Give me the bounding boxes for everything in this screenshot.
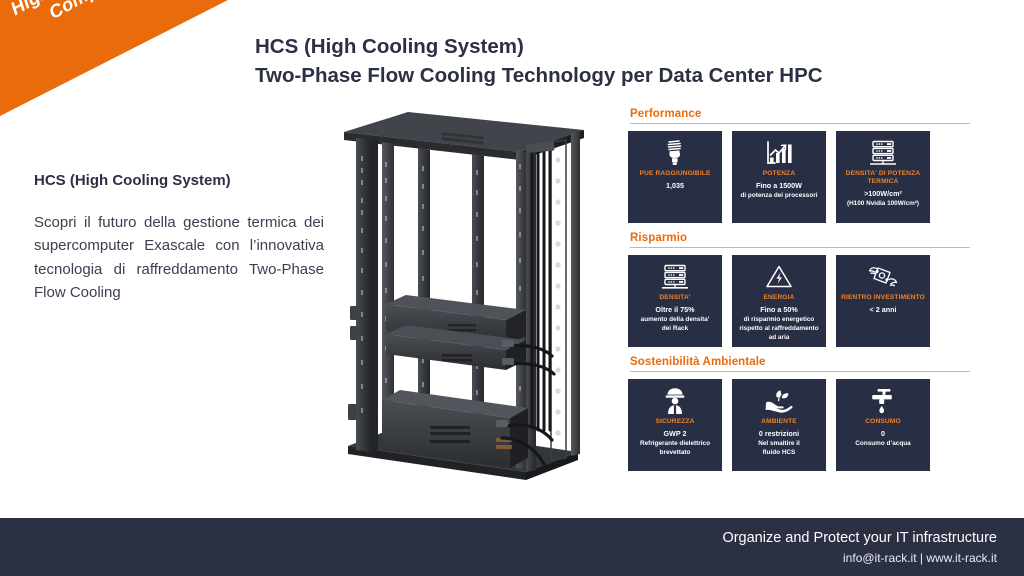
safety-worker-helmet-icon	[662, 386, 688, 416]
feature-card-title: DENSITA' DI POTENZA TERMICA	[840, 170, 926, 186]
section-divider	[630, 371, 970, 372]
description-paragraph: Scopri il futuro della gestione termica …	[34, 211, 324, 304]
feature-card-rientro-investimento[interactable]: RIENTRO INVESTIMENTO < 2 anni	[836, 255, 930, 347]
page-title-line1: HCS (High Cooling System)	[255, 35, 524, 58]
page-title-line2: Two-Phase Flow Cooling Technology per Da…	[255, 61, 915, 90]
card-row-performance: PUE RAGGIUNGIBILE 1,035	[628, 131, 972, 223]
feature-card-subtext: di risparmio energetico	[736, 315, 822, 324]
feature-card-subtext: di potenza dei processori	[740, 191, 817, 200]
feature-card-body: < 2 anni	[870, 305, 897, 315]
feature-card-value: < 2 anni	[870, 305, 897, 315]
section-divider	[630, 123, 970, 124]
feature-card-subtext: Nel smaltire il	[758, 439, 800, 448]
slide-canvas: High Performance Computing HCS (High Coo…	[0, 0, 1024, 576]
card-row-risparmio: DENSITA' Oltre il 75% aumento della dens…	[628, 255, 972, 347]
section-risparmio: Risparmio	[628, 232, 972, 347]
feature-card-note: brevettato	[640, 448, 710, 457]
description-title: HCS (High Cooling System)	[34, 172, 324, 189]
feature-card-value: Oltre il 75%	[641, 305, 710, 315]
feature-card-value: 0 restrizioni	[758, 429, 800, 439]
feature-card-body: Fino a 50% di risparmio energetico rispe…	[736, 305, 822, 343]
footer-contact[interactable]: info@it-rack.it | www.it-rack.it	[722, 549, 997, 567]
section-sostenibilita-ambientale: Sostenibilità Ambientale SICUREZZA	[628, 356, 972, 471]
corner-banner-wedge	[0, 0, 228, 116]
feature-card-body: 0 restrizioni Nel smaltire il fluido HCS	[758, 429, 800, 457]
feature-card-value: GWP 2	[640, 429, 710, 439]
feature-card-subtext: Consumo d’acqua	[855, 439, 910, 448]
feature-card-body: Fino a 1500W di potenza dei processori	[740, 181, 817, 200]
corner-banner-text: High Performance Computing	[0, 0, 204, 58]
section-performance: Performance PUE RAGGIUNGIBILE	[628, 108, 972, 223]
server-stack-icon	[868, 138, 898, 168]
feature-card-subtext: aumento della densita'	[641, 315, 710, 324]
feature-card-energia[interactable]: ENERGIA Fino a 50% di risparmio energeti…	[732, 255, 826, 347]
feature-card-body: 1,035	[666, 181, 684, 191]
high-voltage-warning-icon	[765, 262, 793, 292]
feature-card-title: PUE RAGGIUNGIBILE	[639, 170, 710, 178]
feature-card-densita[interactable]: DENSITA' Oltre il 75% aumento della dens…	[628, 255, 722, 347]
corner-banner: High Performance Computing	[0, 0, 228, 116]
product-image-rack	[330, 108, 612, 496]
feature-card-title: SICUREZZA	[655, 418, 694, 426]
feature-card-title: POTENZA	[763, 170, 796, 178]
feature-card-title: RIENTRO INVESTIMENTO	[841, 294, 925, 302]
feature-card-sicurezza[interactable]: SICUREZZA GWP 2 Refrigerante dielettrico…	[628, 379, 722, 471]
feature-card-note: rispetto al raffreddamento ad aria	[736, 324, 822, 342]
feature-card-title: CONSUMO	[865, 418, 900, 426]
description-block: HCS (High Cooling System) Scopri il futu…	[34, 172, 324, 304]
feature-card-value: Fino a 1500W	[740, 181, 817, 191]
section-divider	[630, 247, 970, 248]
feature-card-value: >100W/cm²	[847, 189, 919, 199]
features-panel: Performance PUE RAGGIUNGIBILE	[628, 108, 972, 480]
feature-card-ambiente[interactable]: AMBIENTE 0 restrizioni Nel smaltire il f…	[732, 379, 826, 471]
section-heading-performance: Performance	[630, 108, 972, 120]
feature-card-title: ENERGIA	[763, 294, 794, 302]
feature-card-value: Fino a 50%	[736, 305, 822, 315]
feature-card-subtext: Refrigerante dielettrico	[640, 439, 710, 448]
page-title: HCS (High Cooling System) Two-Phase Flow…	[255, 32, 915, 90]
bar-chart-growth-icon	[765, 138, 793, 168]
feature-card-consumo[interactable]: CONSUMO 0 Consumo d’acqua	[836, 379, 930, 471]
feature-card-body: >100W/cm² (H100 Nvidia 100W/cm²)	[847, 189, 919, 208]
feature-card-title: AMBIENTE	[761, 418, 797, 426]
section-heading-sostenibilita: Sostenibilità Ambientale	[630, 356, 972, 368]
section-heading-risparmio: Risparmio	[630, 232, 972, 244]
feature-card-note: dei Rack	[641, 324, 710, 333]
feature-card-note: fluido HCS	[758, 448, 800, 457]
corner-banner-line1: High Performance	[7, 0, 159, 19]
footer-bar: Organize and Protect your IT infrastruct…	[0, 518, 1024, 576]
feature-card-potenza[interactable]: POTENZA Fino a 1500W di potenza dei proc…	[732, 131, 826, 223]
feature-card-subtext: (H100 Nvidia 100W/cm²)	[847, 199, 919, 208]
feature-card-value: 0	[855, 429, 910, 439]
card-row-sostenibilita: SICUREZZA GWP 2 Refrigerante dielettrico…	[628, 379, 972, 471]
feature-card-body: GWP 2 Refrigerante dielettrico brevettat…	[640, 429, 710, 457]
feature-card-body: 0 Consumo d’acqua	[855, 429, 910, 448]
corner-banner-line2: Computing	[0, 0, 204, 58]
energy-saving-bulb-icon	[662, 138, 688, 168]
footer-tagline: Organize and Protect your IT infrastruct…	[722, 529, 997, 549]
feature-card-densita-potenza-termica[interactable]: DENSITA' DI POTENZA TERMICA >100W/cm² (H…	[836, 131, 930, 223]
money-with-wings-icon	[868, 262, 898, 292]
server-rack-density-icon	[660, 262, 690, 292]
feature-card-title: DENSITA'	[659, 294, 690, 302]
hand-holding-plant-icon	[764, 386, 794, 416]
feature-card-body: Oltre il 75% aumento della densita' dei …	[641, 305, 710, 333]
footer-content: Organize and Protect your IT infrastruct…	[722, 529, 997, 567]
water-tap-drop-icon	[869, 386, 897, 416]
feature-card-value: 1,035	[666, 181, 684, 191]
feature-card-pue[interactable]: PUE RAGGIUNGIBILE 1,035	[628, 131, 722, 223]
